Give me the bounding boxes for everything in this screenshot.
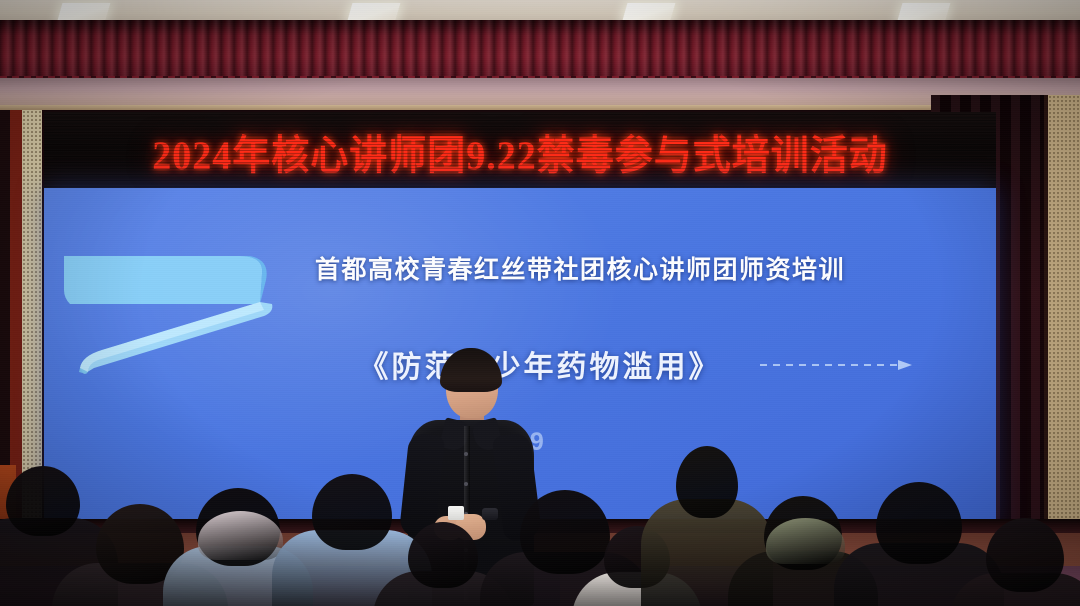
audience-member-head (312, 474, 392, 550)
led-banner: 2024年核心讲师团9.22禁毒参与式培训活动 (44, 112, 996, 190)
audience-group (0, 430, 1080, 606)
audience-member-head (986, 518, 1064, 592)
ceiling-light (58, 3, 111, 20)
wall-band (0, 78, 1080, 108)
slide-headline: 首都高校青春红丝带社团核心讲师团师资培训 (44, 250, 996, 286)
audience-member-head (6, 466, 80, 536)
audience-member-head (676, 446, 738, 518)
stage-curtain-valance (0, 20, 1080, 80)
audience-member-head (876, 482, 962, 564)
ceiling-light (348, 3, 401, 20)
dashed-arrow-icon (760, 358, 920, 372)
presenter-hair (440, 348, 502, 392)
led-banner-text: 2024年核心讲师团9.22禁毒参与式培训活动 (152, 122, 888, 180)
photo-scene: 2024年核心讲师团9.22禁毒参与式培训活动 首都高校青春红丝带社团核心讲师团… (0, 0, 1080, 606)
audience-member-head (520, 490, 610, 574)
ceiling-light (898, 3, 951, 20)
ceiling-light (623, 3, 676, 20)
audience-member-head (408, 522, 478, 588)
